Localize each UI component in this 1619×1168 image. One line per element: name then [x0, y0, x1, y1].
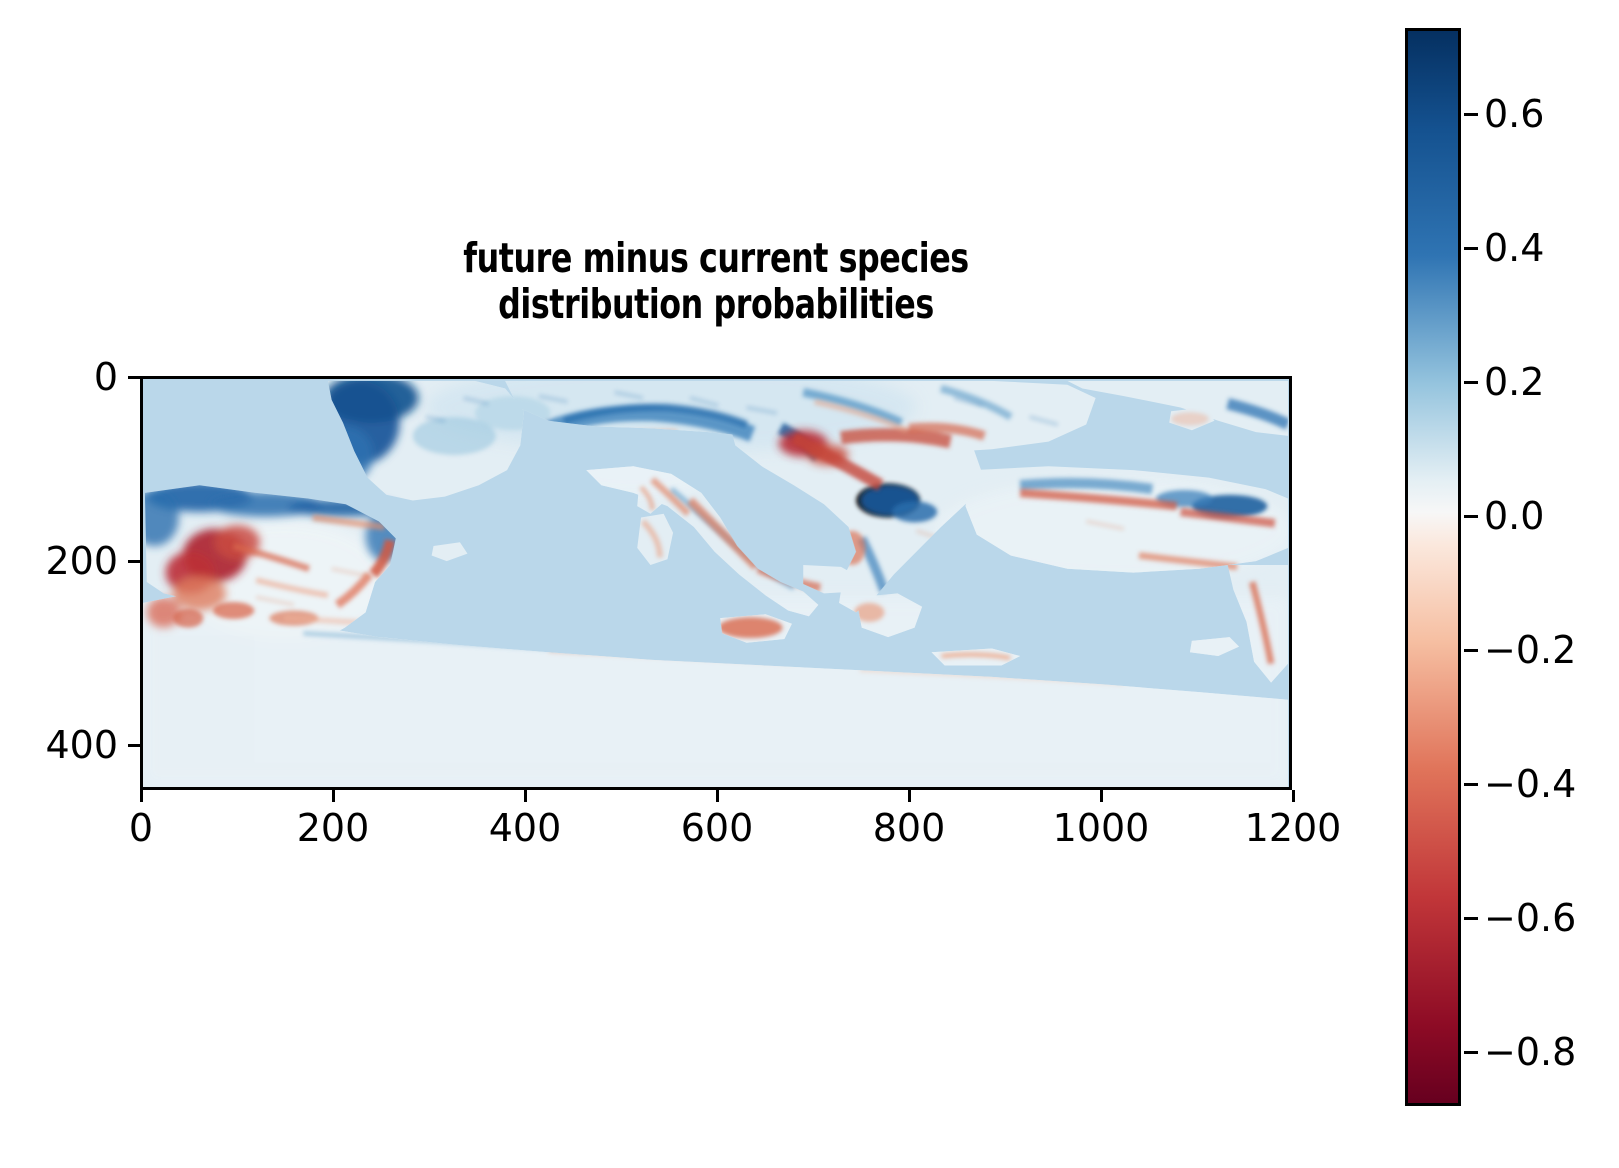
colorbar-tickmark	[1464, 113, 1478, 116]
y-tickmark	[128, 560, 140, 563]
chart-title-line-1: future minus current species	[221, 236, 1212, 282]
colorbar-label-neg0.2: −0.2	[1484, 628, 1576, 672]
chart-title-line-2: distribution probabilities	[221, 282, 1212, 328]
colorbar-label-0.4: 0.4	[1484, 226, 1544, 270]
y-tickmark	[128, 744, 140, 747]
colorbar-gradient	[1408, 31, 1458, 1103]
chart-title: future minus current species distributio…	[221, 236, 1212, 328]
y-tickmark	[128, 376, 140, 379]
x-tick-label-1200: 1200	[1245, 806, 1342, 850]
x-tickmark	[1100, 790, 1103, 802]
x-tickmark	[908, 790, 911, 802]
y-tick-label-0: 0	[28, 355, 118, 399]
colorbar-tickmark	[1464, 783, 1478, 786]
x-tickmark	[332, 790, 335, 802]
colorbar-tickmark	[1464, 1051, 1478, 1054]
x-tickmark	[140, 790, 143, 802]
colorbar-label-0.0: 0.0	[1484, 494, 1544, 538]
colorbar-label-0.2: 0.2	[1484, 360, 1544, 404]
colorbar	[1405, 28, 1461, 1106]
x-tick-label-0: 0	[129, 806, 153, 850]
colorbar-tickmark	[1464, 515, 1478, 518]
colorbar-label-neg0.4: −0.4	[1484, 762, 1576, 806]
colorbar-label-neg0.6: −0.6	[1484, 896, 1576, 940]
x-tick-label-1000: 1000	[1053, 806, 1150, 850]
colorbar-tickmark	[1464, 247, 1478, 250]
y-tick-label-400: 400	[28, 723, 118, 767]
x-tick-label-400: 400	[489, 806, 562, 850]
colorbar-tickmark	[1464, 381, 1478, 384]
x-tickmark	[1292, 790, 1295, 802]
x-tick-label-200: 200	[297, 806, 370, 850]
x-tick-label-800: 800	[873, 806, 946, 850]
x-tick-label-600: 600	[681, 806, 754, 850]
species-distribution-heatmap	[143, 379, 1289, 787]
figure-canvas: future minus current species distributio…	[0, 0, 1619, 1168]
colorbar-label-neg0.8: −0.8	[1484, 1030, 1576, 1074]
heatmap-plot-area	[140, 376, 1292, 790]
colorbar-label-0.6: 0.6	[1484, 92, 1544, 136]
colorbar-tickmark	[1464, 649, 1478, 652]
x-tickmark	[524, 790, 527, 802]
colorbar-tickmark	[1464, 917, 1478, 920]
x-tickmark	[716, 790, 719, 802]
y-tick-label-200: 200	[28, 539, 118, 583]
